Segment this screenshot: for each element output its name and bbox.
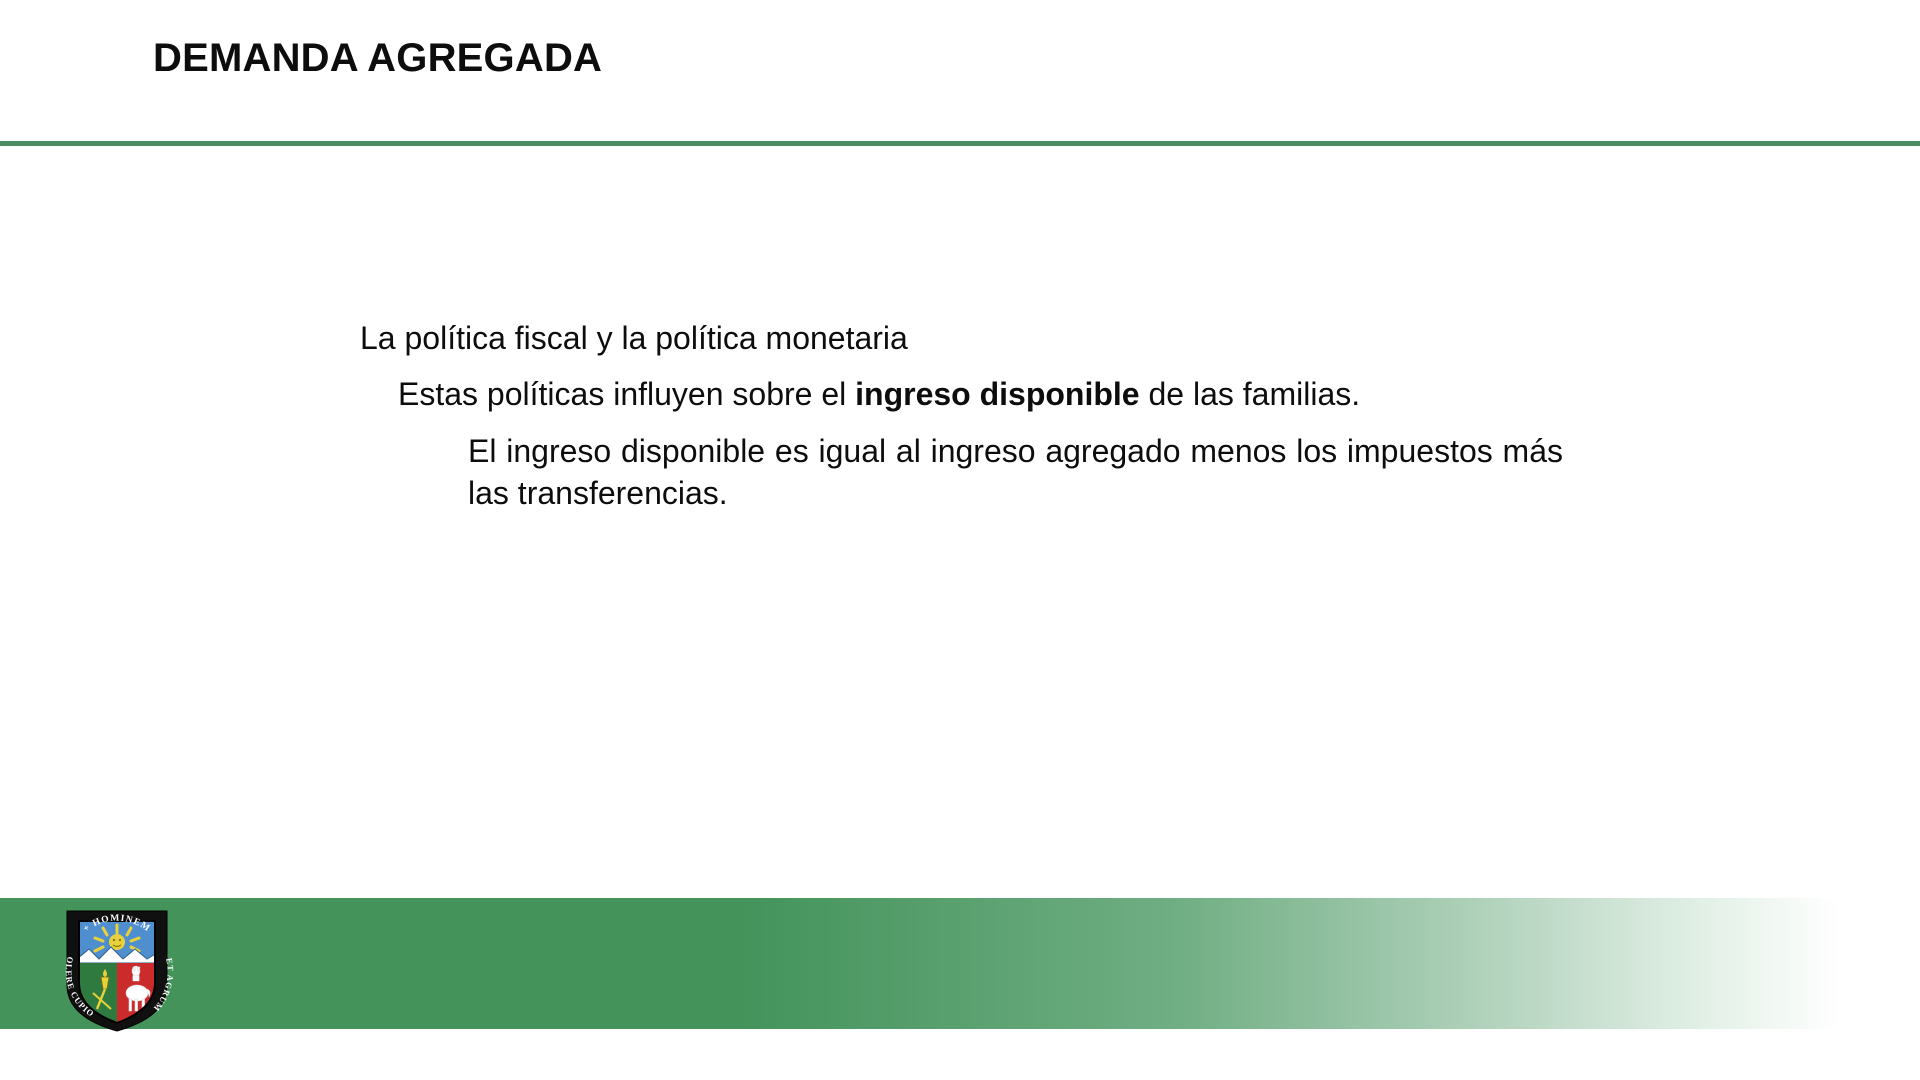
bullet-level-2-suffix: de las familias. (1140, 376, 1361, 412)
footer-gradient-bar (0, 898, 1841, 1029)
bullet-level-3: El ingreso disponible es igual al ingres… (468, 431, 1563, 514)
title-divider-rule (0, 141, 1920, 146)
bullet-level-2-prefix: Estas políticas influyen sobre el (398, 376, 855, 412)
slide-canvas: DEMANDA AGREGADA La política fiscal y la… (0, 0, 1920, 1080)
university-crest-icon: + HOMINEM ET AGRUM COLERE CUPIO (57, 897, 177, 1033)
slide-body: La política fiscal y la política monetar… (0, 318, 1920, 514)
bullet-level-2-bold-term: ingreso disponible (855, 376, 1139, 412)
bullet-level-1: La política fiscal y la política monetar… (360, 318, 1560, 360)
page-title: DEMANDA AGREGADA (153, 36, 602, 81)
bullet-level-2: Estas políticas influyen sobre el ingres… (398, 374, 1563, 416)
